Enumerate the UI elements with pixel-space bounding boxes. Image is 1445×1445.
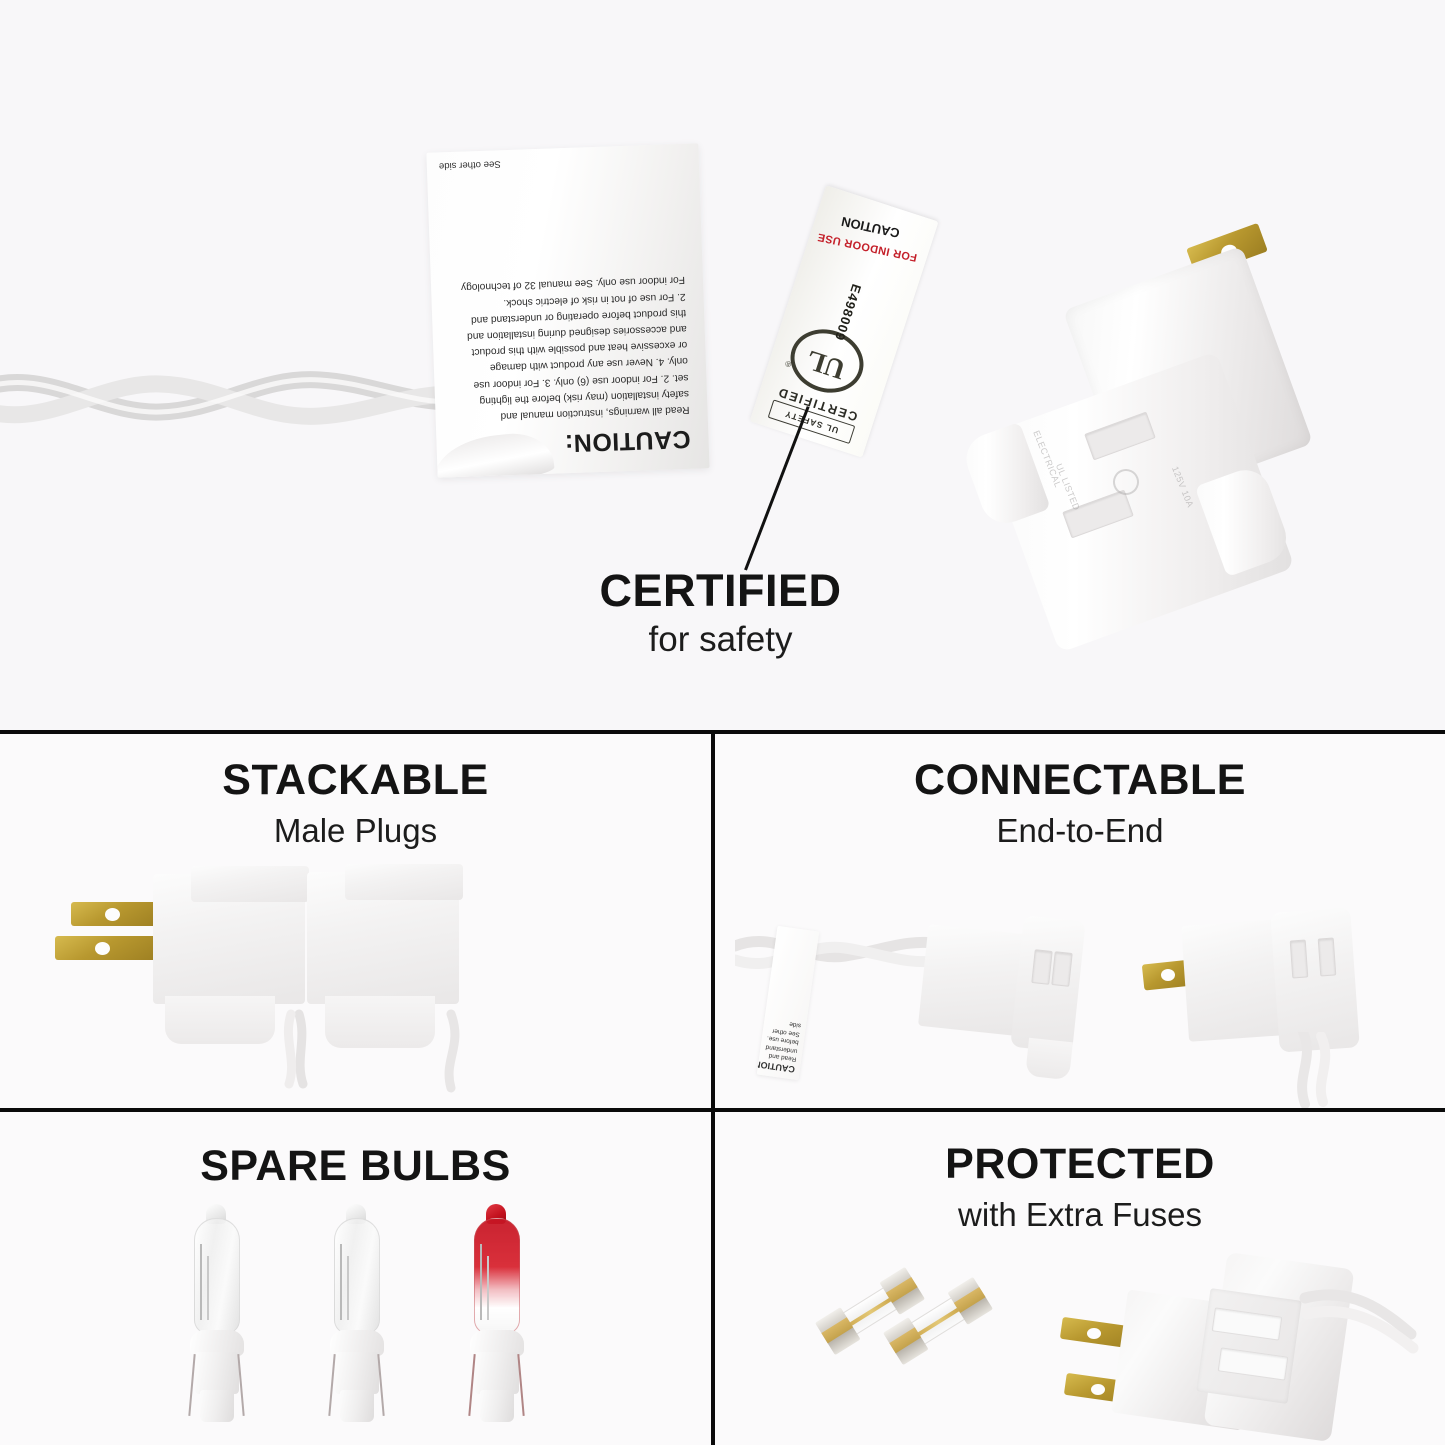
fuse-cap-band — [886, 1277, 918, 1303]
protected-image — [715, 1252, 1445, 1445]
bulb-base — [195, 1352, 239, 1394]
bulb-filament — [347, 1256, 349, 1320]
quadrant-title: SPARE BULBS — [0, 1142, 711, 1191]
quadrant-title: CONNECTABLE — [715, 756, 1445, 805]
bulb-base — [200, 1390, 234, 1422]
caution-label: CAUTION: Read all warnings, instruction … — [426, 143, 709, 477]
connectable-tag-heading: CAUTION — [763, 1061, 796, 1074]
bulb-filament — [200, 1244, 202, 1320]
quadrant-connectable: CONNECTABLE End-to-End CAUTION Read and … — [715, 734, 1445, 1108]
hero-panel: CAUTION: Read all warnings, instruction … — [0, 0, 1445, 730]
prong-hole — [1087, 1328, 1101, 1339]
connectable-socket-slot — [1051, 951, 1072, 987]
certified-subheading: for safety — [0, 617, 1443, 663]
certified-heading: CERTIFIED — [0, 565, 1443, 617]
caution-label-content: CAUTION: Read all warnings, instruction … — [426, 143, 709, 477]
bulb-filament — [207, 1256, 209, 1320]
quadrant-subtitle: Male Plugs — [0, 812, 711, 850]
prong-hole — [1161, 969, 1175, 981]
prong-hole — [1091, 1384, 1105, 1395]
bulb-base — [335, 1352, 379, 1394]
stackable-wire — [45, 864, 605, 1094]
fuse-holder-plug — [1055, 1238, 1435, 1445]
fuse-cap-band — [821, 1317, 853, 1343]
bulb-clear — [320, 1204, 394, 1424]
spare-bulbs-image — [180, 1204, 560, 1439]
twisted-wire-svg — [0, 360, 460, 450]
connectable-male-wire — [1275, 1032, 1395, 1108]
connectable-female-fin — [1025, 1038, 1073, 1080]
bulb-red — [460, 1204, 534, 1424]
bulb-base — [480, 1390, 514, 1422]
caution-footer: See other side — [439, 158, 501, 171]
quadrant-title: STACKABLE — [0, 756, 711, 805]
ul-tag-face: UL SAFETY CERTIFIED UL ® E498009 CAUTION… — [750, 185, 939, 457]
plug-features-infographic: PLUG FEATURES CAUTION: Read all warnings… — [0, 0, 1445, 1445]
bulb-base — [340, 1390, 374, 1422]
connectable-socket-slot — [1031, 949, 1052, 985]
bulb-clear — [180, 1204, 254, 1424]
fuse-holder-wire — [1295, 1280, 1445, 1400]
connectable-plugs-image: CAUTION Read and understand before use. … — [735, 892, 1435, 1104]
connectable-male-slot — [1290, 939, 1309, 978]
callout-leader-line — [744, 406, 810, 570]
fuse-cap-band — [889, 1327, 921, 1353]
certified-callout: CERTIFIED for safety — [0, 565, 1445, 663]
bulb-filament — [480, 1244, 482, 1320]
quadrant-spare-bulbs: SPARE BULBS — [0, 1112, 711, 1445]
twisted-wire — [0, 360, 460, 450]
bulb-base — [475, 1352, 519, 1394]
connectable-male-face — [1270, 907, 1360, 1052]
connectable-male-slot — [1318, 937, 1337, 976]
quadrant-title: PROTECTED — [715, 1140, 1445, 1189]
ul-certification-tag: UL SAFETY CERTIFIED UL ® E498009 CAUTION… — [750, 185, 943, 459]
stackable-plugs-image — [45, 864, 605, 1094]
quadrant-protected: PROTECTED with Extra Fuses — [715, 1112, 1445, 1445]
fuse-cap-band — [954, 1287, 986, 1313]
quadrant-stackable: STACKABLE Male Plugs — [0, 734, 711, 1108]
fuse-access-door — [1196, 1288, 1302, 1404]
quadrant-subtitle: with Extra Fuses — [715, 1196, 1445, 1234]
bulb-filament — [487, 1256, 489, 1320]
bulb-filament — [340, 1244, 342, 1320]
quadrant-subtitle: End-to-End — [715, 812, 1445, 850]
